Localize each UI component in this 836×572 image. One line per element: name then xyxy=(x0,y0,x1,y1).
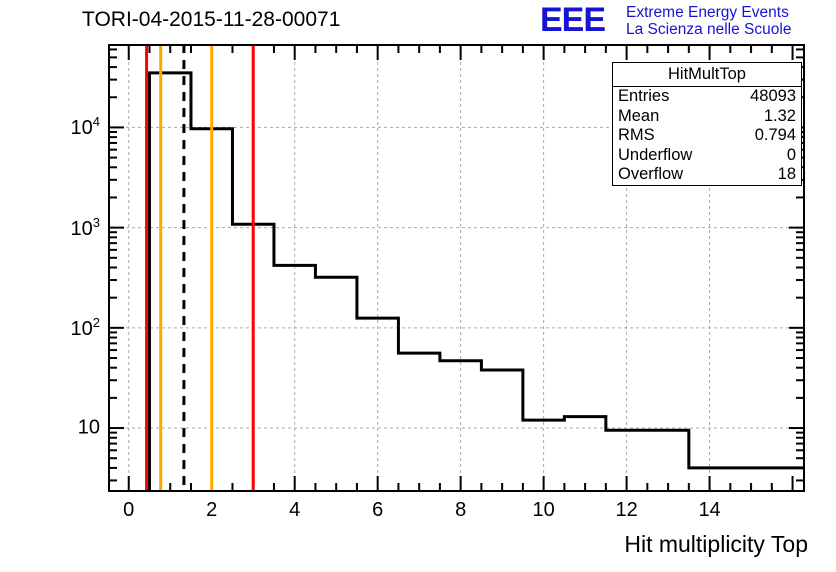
x-tick-label: 8 xyxy=(455,499,466,522)
x-axis-title: Hit multiplicity Top xyxy=(624,531,808,558)
stats-box: HitMultTop Entries48093Mean1.32RMS0.794U… xyxy=(612,62,802,186)
x-tick-label: 14 xyxy=(698,499,720,522)
y-tick-label: 103 xyxy=(71,215,100,241)
x-tick-label: 0 xyxy=(123,499,134,522)
eee-logo-text: Extreme Energy Events La Scienza nelle S… xyxy=(626,4,791,38)
stats-row-value: 1.32 xyxy=(764,107,796,127)
page-title: TORI-04-2015-11-28-00071 xyxy=(82,8,340,32)
stats-row-key: RMS xyxy=(618,126,655,146)
stats-row-value: 48093 xyxy=(750,87,796,107)
chart-canvas: TORI-04-2015-11-28-00071 EEE Extreme Ene… xyxy=(0,0,836,572)
y-tick-label: 104 xyxy=(71,115,100,141)
stats-row: Entries48093 xyxy=(613,87,801,107)
stats-row-value: 0.794 xyxy=(755,126,796,146)
y-tick-label: 10 xyxy=(78,417,100,440)
eee-logo-line1: Extreme Energy Events xyxy=(626,4,791,21)
stats-row: Underflow0 xyxy=(613,146,801,166)
stats-row: Mean1.32 xyxy=(613,107,801,127)
x-tick-label: 2 xyxy=(206,499,217,522)
eee-logo-line2: La Scienza nelle Scuole xyxy=(626,21,791,38)
eee-logo-mark: EEE xyxy=(540,3,605,37)
stats-row-value: 0 xyxy=(787,146,796,166)
stats-box-rows: Entries48093Mean1.32RMS0.794Underflow0Ov… xyxy=(613,87,801,185)
x-tick-label: 6 xyxy=(372,499,383,522)
x-tick-label: 10 xyxy=(533,499,555,522)
stats-row-key: Underflow xyxy=(618,146,692,166)
x-tick-label: 4 xyxy=(289,499,300,522)
y-tick-label: 102 xyxy=(71,315,100,341)
stats-row: RMS0.794 xyxy=(613,126,801,146)
stats-row-key: Mean xyxy=(618,107,659,127)
stats-row: Overflow18 xyxy=(613,165,801,185)
stats-box-title: HitMultTop xyxy=(613,63,801,87)
stats-row-key: Entries xyxy=(618,87,669,107)
eee-logo: EEE Extreme Energy Events La Scienza nel… xyxy=(540,2,832,40)
x-tick-label: 12 xyxy=(615,499,637,522)
stats-row-value: 18 xyxy=(778,165,796,185)
stats-row-key: Overflow xyxy=(618,165,683,185)
